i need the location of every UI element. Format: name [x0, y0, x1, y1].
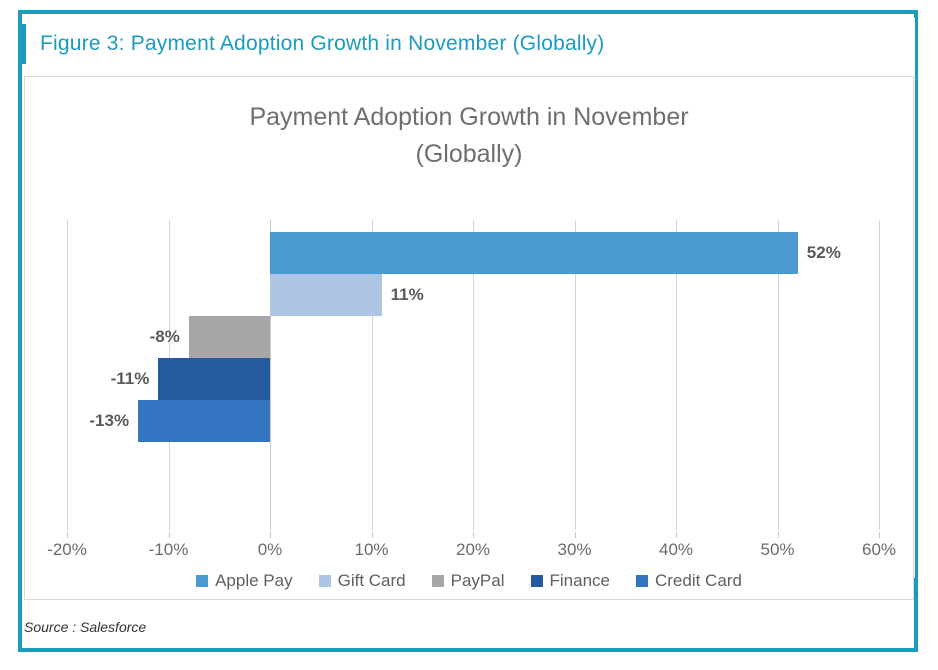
bar-credit-card[interactable]	[138, 400, 270, 442]
x-tick-label: 20%	[456, 540, 490, 560]
legend-swatch-icon	[531, 575, 543, 587]
x-tick-mark	[879, 532, 880, 538]
figure-header: Figure 3: Payment Adoption Growth in Nov…	[22, 22, 918, 66]
bar-apple-pay[interactable]	[270, 232, 798, 274]
chart-container: Payment Adoption Growth in November (Glo…	[24, 76, 914, 600]
bar-value-label: -8%	[150, 316, 180, 358]
legend-swatch-icon	[319, 575, 331, 587]
chart-title-line-1: Payment Adoption Growth in November	[25, 99, 913, 136]
chart-legend: Apple PayGift CardPayPalFinanceCredit Ca…	[25, 571, 913, 591]
bar-gift-card[interactable]	[270, 274, 382, 316]
legend-label: Finance	[550, 571, 610, 591]
legend-item-gift-card[interactable]: Gift Card	[319, 571, 406, 591]
x-tick-mark	[473, 532, 474, 538]
bar-paypal[interactable]	[189, 316, 270, 358]
x-tick-label: 30%	[557, 540, 591, 560]
x-tick-mark	[372, 532, 373, 538]
legend-label: Apple Pay	[215, 571, 293, 591]
legend-item-paypal[interactable]: PayPal	[432, 571, 505, 591]
figure-caption: Figure 3: Payment Adoption Growth in Nov…	[40, 32, 604, 56]
legend-swatch-icon	[636, 575, 648, 587]
source-row: Source : Salesforce	[24, 610, 914, 644]
legend-item-credit-card[interactable]: Credit Card	[636, 571, 742, 591]
legend-label: Gift Card	[338, 571, 406, 591]
x-tick-mark	[67, 532, 68, 538]
bar-value-label: -11%	[111, 358, 150, 400]
legend-label: Credit Card	[655, 571, 742, 591]
legend-item-finance[interactable]: Finance	[531, 571, 610, 591]
x-tick-mark	[270, 532, 271, 538]
x-tick-label: 10%	[354, 540, 388, 560]
source-label: Source : Salesforce	[24, 619, 146, 635]
legend-swatch-icon	[432, 575, 444, 587]
bars-layer: 52%11%-8%-11%-13%	[67, 220, 879, 530]
bar-value-label: -13%	[89, 400, 129, 442]
chart-title: Payment Adoption Growth in November (Glo…	[25, 99, 913, 173]
gridline	[879, 220, 880, 530]
x-tick-mark	[778, 532, 779, 538]
header-accent-bar	[22, 24, 26, 64]
x-tick-mark	[169, 532, 170, 538]
x-tick-label: -20%	[47, 540, 87, 560]
x-tick-label: 40%	[659, 540, 693, 560]
legend-label: PayPal	[451, 571, 505, 591]
x-axis: -20%-10%0%10%20%30%40%50%60%	[67, 532, 879, 562]
bar-value-label: 52%	[807, 232, 841, 274]
bar-value-label: 11%	[391, 274, 424, 316]
plot-area: 52%11%-8%-11%-13%	[67, 220, 879, 530]
x-tick-mark	[575, 532, 576, 538]
x-tick-label: 60%	[862, 540, 896, 560]
legend-swatch-icon	[196, 575, 208, 587]
figure-frame: Figure 3: Payment Adoption Growth in Nov…	[18, 10, 918, 652]
x-tick-label: -10%	[149, 540, 189, 560]
legend-item-apple-pay[interactable]: Apple Pay	[196, 571, 293, 591]
chart-title-line-2: (Globally)	[25, 136, 913, 173]
bar-finance[interactable]	[158, 358, 270, 400]
x-tick-mark	[676, 532, 677, 538]
x-tick-label: 0%	[258, 540, 283, 560]
x-tick-label: 50%	[760, 540, 794, 560]
